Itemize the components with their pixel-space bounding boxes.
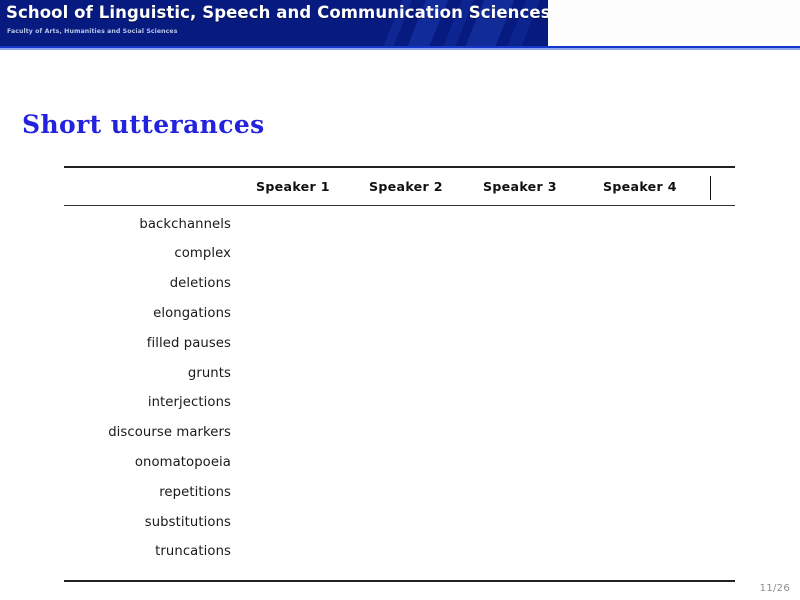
row-label: onomatopoeia [64,455,231,470]
row-label: truncations [64,544,231,559]
table-row: grunts [64,363,735,393]
row-label: discourse markers [64,425,231,440]
speaker-counts-table: Speaker 1 Speaker 2 Speaker 3 Speaker 4 … [64,166,735,582]
table-row: complex [64,243,735,273]
table-row: filled pauses [64,333,735,363]
table-row: substitutions [64,512,735,542]
column-header-speaker-3: Speaker 3 [483,179,557,194]
table-bottom-rule [64,580,735,582]
table-row: truncations [64,541,735,571]
banner-rule-secondary [0,48,800,50]
row-label: filled pauses [64,336,231,351]
column-header-speaker-4: Speaker 4 [603,179,677,194]
page-title: Short utterances [22,110,265,139]
table-row: onomatopoeia [64,452,735,482]
page-number: 11/26 [760,583,790,594]
row-label: grunts [64,366,231,381]
row-label: elongations [64,306,231,321]
table-row: deletions [64,273,735,303]
column-header-speaker-2: Speaker 2 [369,179,443,194]
slide-header-banner: School of Linguistic, Speech and Communi… [0,0,800,46]
row-label: repetitions [64,485,231,500]
school-title: School of Linguistic, Speech and Communi… [6,3,548,22]
row-label: complex [64,246,231,261]
table-row: discourse markers [64,422,735,452]
table-row: elongations [64,303,735,333]
row-label: substitutions [64,515,231,530]
column-header-speaker-1: Speaker 1 [256,179,330,194]
banner-blue-field: School of Linguistic, Speech and Communi… [0,0,548,46]
row-label: backchannels [64,217,231,232]
banner-logo-area: TRINITY COLLEGE DUBLIN COLÁISTE NA TRÍON… [548,0,800,46]
table-body: backchannels complex deletions elongatio… [64,206,735,581]
table-row: backchannels [64,214,735,244]
table-row: repetitions [64,482,735,512]
table-row: interjections [64,392,735,422]
table-header-row: Speaker 1 Speaker 2 Speaker 3 Speaker 4 [64,168,735,205]
faculty-subtitle: Faculty of Arts, Humanities and Social S… [7,28,178,35]
row-label: deletions [64,276,231,291]
row-label: interjections [64,395,231,410]
header-vertical-divider [710,176,711,200]
